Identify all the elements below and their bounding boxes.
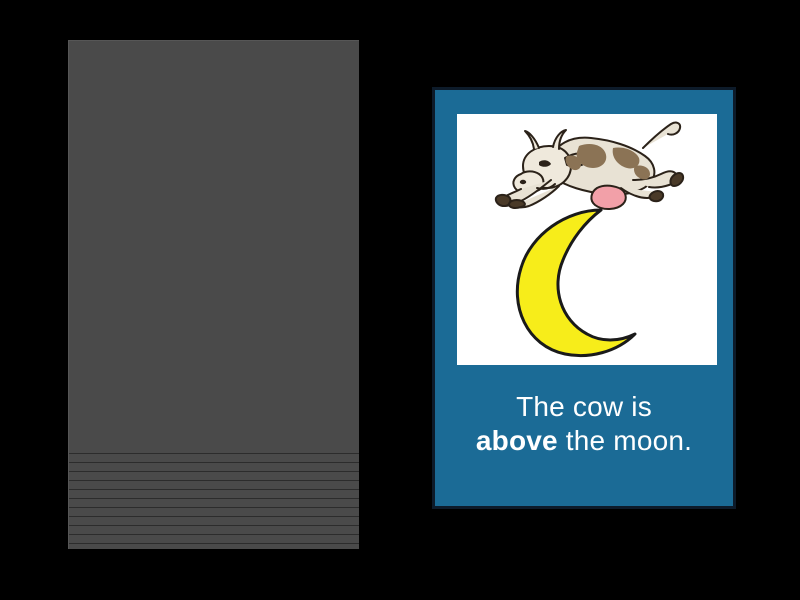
content-line <box>69 543 359 549</box>
content-line <box>69 534 359 543</box>
content-line <box>69 507 359 516</box>
content-line <box>69 462 359 471</box>
caption-emphasis: above <box>476 425 558 456</box>
content-panel-body <box>69 41 359 453</box>
flashcard[interactable]: The cow is above the moon. <box>432 87 736 509</box>
content-panel-line-group <box>69 453 359 549</box>
content-line <box>69 525 359 534</box>
jumping-cow-icon <box>493 118 685 218</box>
content-line <box>69 471 359 480</box>
crescent-moon-icon <box>505 206 661 358</box>
caption-line-1: The cow is <box>435 390 733 424</box>
flashcard-caption: The cow is above the moon. <box>435 390 733 458</box>
caption-line-2: above the moon. <box>435 424 733 458</box>
blank-content-panel[interactable] <box>68 40 359 549</box>
content-line <box>69 498 359 507</box>
flashcard-image-panel <box>457 114 717 365</box>
content-line <box>69 480 359 489</box>
content-line <box>69 489 359 498</box>
caption-line-2-rest: the moon. <box>558 425 692 456</box>
slide-stage: The cow is above the moon. <box>0 0 800 600</box>
content-line <box>69 453 359 462</box>
content-line <box>69 516 359 525</box>
